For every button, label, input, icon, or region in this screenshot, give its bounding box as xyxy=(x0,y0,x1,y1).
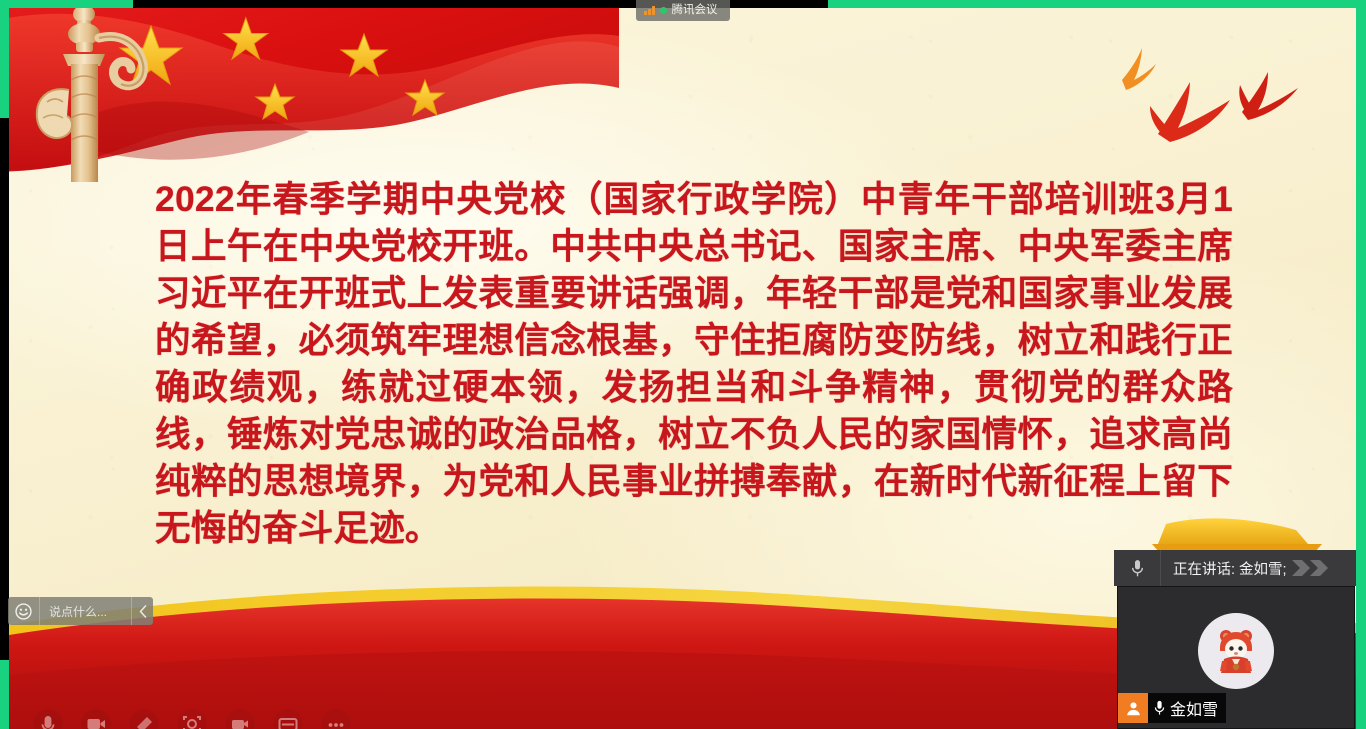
share-screen-icon[interactable] xyxy=(127,707,161,729)
chat-input-bar[interactable]: 说点什么... xyxy=(8,597,153,625)
person-icon xyxy=(1118,693,1148,723)
share-border-left-top xyxy=(0,0,9,118)
participant-name-badge: 金如雪 xyxy=(1118,693,1226,723)
video-panel[interactable]: 正在讲话: 金如雪; xyxy=(1114,550,1358,729)
chevron-left-icon[interactable] xyxy=(131,597,153,625)
signal-bars-icon xyxy=(644,6,655,15)
participant-name: 金如雪 xyxy=(1168,696,1226,720)
record-icon[interactable] xyxy=(223,707,257,729)
more-icon[interactable] xyxy=(319,707,353,729)
share-border-left-bottom xyxy=(0,660,9,729)
microphone-icon[interactable] xyxy=(31,707,65,729)
share-border-top-right xyxy=(828,0,1366,8)
speaking-status-label: 正在讲话: 金如雪; xyxy=(1161,558,1287,579)
microphone-small-icon xyxy=(1148,700,1168,716)
emoji-smiley-icon[interactable] xyxy=(8,597,40,625)
meeting-toolbar[interactable] xyxy=(9,707,369,729)
status-dot-icon xyxy=(660,7,667,14)
annotate-icon[interactable] xyxy=(175,707,209,729)
camera-icon[interactable] xyxy=(79,707,113,729)
video-panel-header[interactable]: 正在讲话: 金如雪; xyxy=(1114,550,1358,586)
double-chevron-icon[interactable] xyxy=(1290,558,1330,577)
tencent-meeting-pill[interactable]: 腾讯会议 xyxy=(636,0,730,21)
shared-screen-view: 2022年春季学期中央党校（国家行政学院）中青年干部培训班3月1日上午在中央党校… xyxy=(0,0,1366,729)
microphone-icon[interactable] xyxy=(1114,550,1161,586)
huabiao-column-decoration xyxy=(27,8,157,182)
share-border-top-left xyxy=(0,0,133,8)
chat-input-placeholder[interactable]: 说点什么... xyxy=(40,603,131,620)
slide-headline: 2022年春季学期中央党校（国家行政学院）中青年干部培训班3月1日上午在中央党校… xyxy=(155,176,1233,552)
chat-icon[interactable] xyxy=(271,707,305,729)
video-tile[interactable]: 金如雪 xyxy=(1117,586,1355,729)
avatar xyxy=(1198,613,1274,689)
tencent-meeting-label: 腾讯会议 xyxy=(672,5,718,17)
flying-birds-decoration xyxy=(1090,38,1320,148)
